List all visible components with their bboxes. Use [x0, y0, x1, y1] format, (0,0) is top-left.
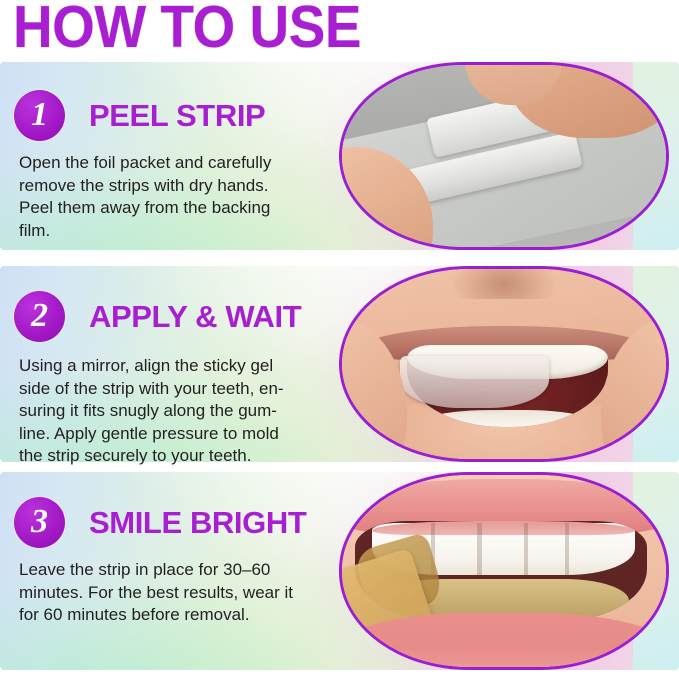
step-3-photo [339, 472, 669, 670]
apply-strip-illustration [342, 269, 666, 459]
smile-scene [342, 475, 666, 667]
how-to-use-infographic: HOW TO USE [0, 0, 679, 675]
step-2-title: APPLY & WAIT [89, 301, 301, 333]
step-1-number: 1 [31, 98, 48, 132]
step-3-number-badge: 3 [14, 497, 65, 548]
tooth-separator [565, 523, 569, 575]
step-1-photo [339, 62, 669, 250]
strip-applied-to-teeth [400, 356, 549, 407]
tooth-separator [477, 523, 481, 575]
tooth-separator [524, 523, 528, 575]
step-1-body: Open the foil packet and carefully remov… [19, 152, 317, 242]
nose-shadow [452, 269, 556, 299]
step-2-photo [339, 266, 669, 462]
step-2-number: 2 [31, 299, 48, 333]
step-2-header: 2 APPLY & WAIT [14, 291, 301, 342]
step-3-body: Leave the strip in place for 30–60 minut… [19, 559, 317, 627]
step-2-number-badge: 2 [14, 291, 65, 342]
foil-packet-scene [342, 65, 666, 247]
step-1-header: 1 PEEL STRIP [14, 90, 265, 141]
step-3-title: SMILE BRIGHT [89, 507, 306, 539]
step-3-header: 3 SMILE BRIGHT [14, 497, 306, 548]
step-2-body: Using a mirror, align the sticky gel sid… [19, 355, 317, 468]
gumline [372, 521, 634, 535]
peel-strip-illustration [342, 65, 666, 247]
step-3-number: 3 [31, 505, 48, 539]
step-1-number-badge: 1 [14, 90, 65, 141]
lower-teeth-row [423, 410, 592, 426]
lower-lip [342, 613, 666, 667]
smile-result-illustration [342, 475, 666, 667]
page-title: HOW TO USE [13, 0, 361, 58]
mouth-application-scene [342, 269, 666, 459]
step-1-title: PEEL STRIP [89, 100, 265, 132]
